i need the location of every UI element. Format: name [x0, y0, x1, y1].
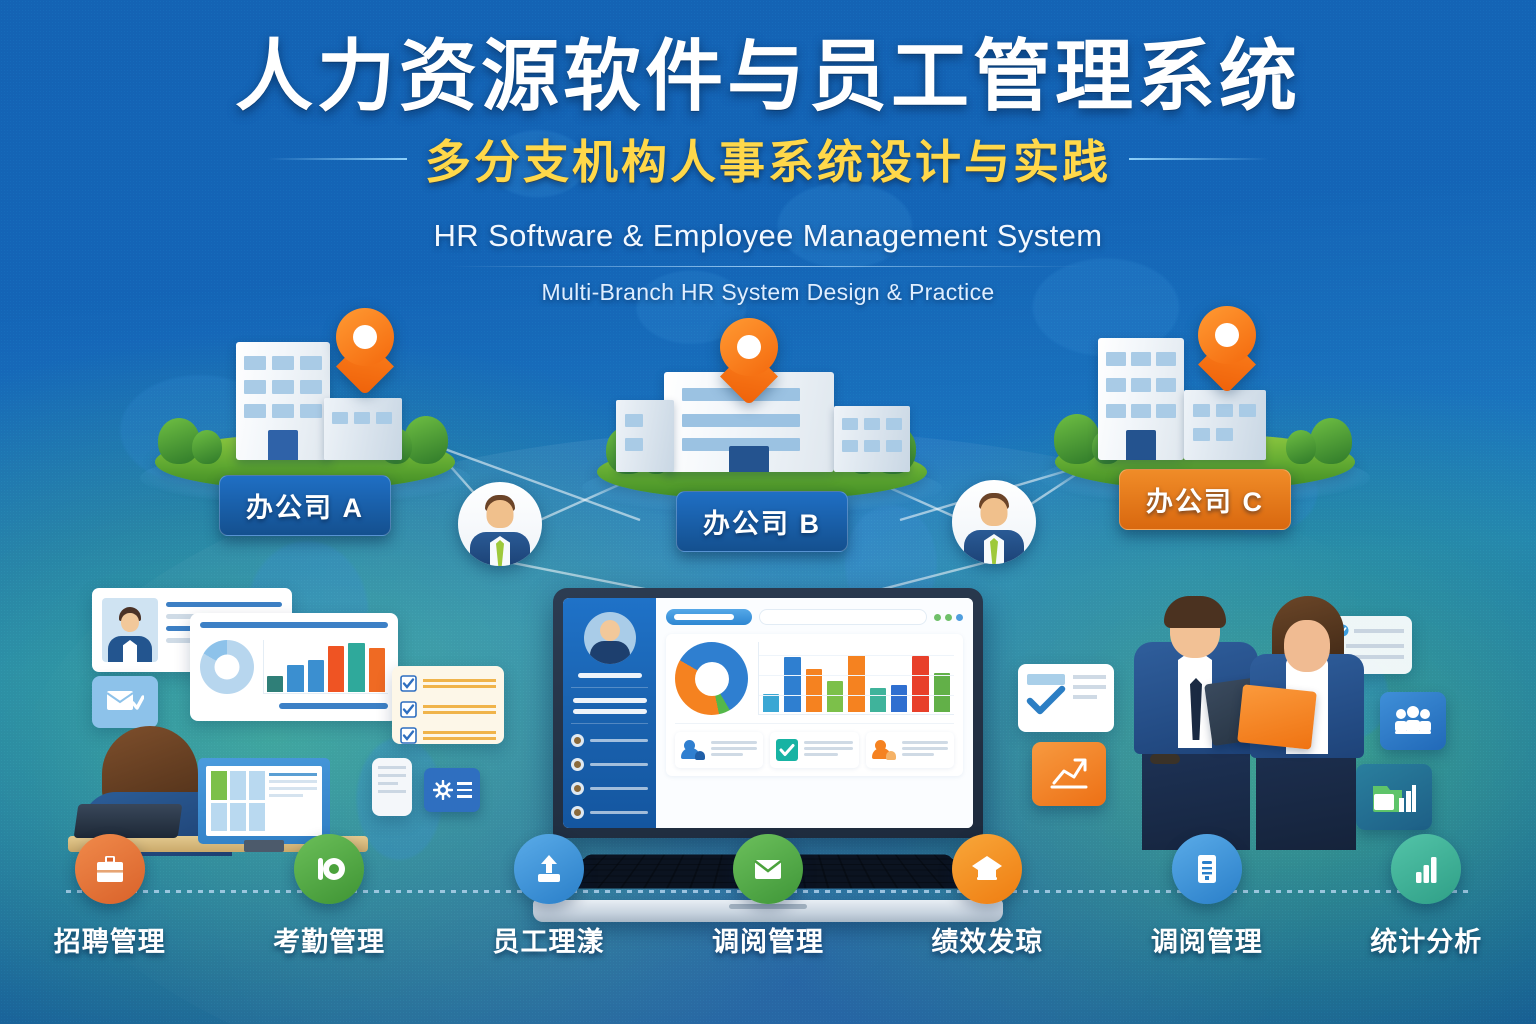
building-a-annex	[324, 398, 402, 460]
upload-icon	[514, 834, 584, 904]
list-avatar-icon	[571, 806, 584, 819]
page-title: 人力资源软件与员工管理系统	[0, 36, 1536, 118]
list-avatar-icon	[571, 734, 584, 747]
arrow-up-chart-icon	[1048, 755, 1090, 793]
page-title-en: HR Software & Employee Management System	[0, 218, 1536, 254]
document-icon[interactable]	[372, 758, 412, 816]
graduation-icon	[952, 834, 1022, 904]
primary-button[interactable]	[666, 609, 752, 625]
employee-node-right[interactable]	[952, 480, 1036, 564]
card-title-bar	[200, 622, 388, 628]
avatar	[963, 518, 1025, 564]
office-badge-a[interactable]: 办公司 A	[219, 475, 391, 536]
feature-recruitment[interactable]: 招聘管理	[0, 834, 219, 959]
dashboard-card[interactable]	[866, 732, 954, 768]
id-photo	[102, 598, 158, 662]
list-avatar-icon	[571, 758, 584, 771]
feature-label: 员工理漾	[493, 920, 605, 959]
checkbox-checked-icon[interactable]	[400, 701, 417, 718]
tree-icon	[192, 430, 222, 464]
building-b-left	[616, 400, 674, 472]
dashboard-main	[656, 598, 973, 828]
feature-label: 调阅管理	[1151, 920, 1263, 959]
divider-left	[267, 158, 407, 160]
business-people-illustration	[1120, 578, 1380, 850]
divider-right	[1129, 158, 1269, 160]
office-node-a[interactable]: 办公司 A	[140, 300, 470, 490]
feature-benefits[interactable]: 绩效发琼	[878, 834, 1097, 959]
sidebar-item[interactable]	[571, 806, 648, 819]
gear-icon	[433, 780, 453, 800]
task-check-card[interactable]	[1018, 664, 1114, 732]
status-dots	[934, 614, 963, 621]
feature-label: 考勤管理	[273, 920, 385, 959]
check-teal-icon	[776, 739, 798, 761]
user-blue-icon	[681, 739, 705, 761]
charts-panel	[666, 634, 963, 776]
growth-arrow-icon[interactable]	[1032, 742, 1106, 806]
dashboard-card[interactable]	[770, 732, 858, 768]
document-icon	[1172, 834, 1242, 904]
clock-io-icon	[294, 834, 364, 904]
donut-chart	[675, 642, 748, 715]
feature-bar: 招聘管理 考勤管理 员工理漾 调阅管理	[0, 834, 1536, 1024]
building-c-annex	[1184, 390, 1266, 460]
feature-label: 招聘管理	[54, 920, 166, 959]
feature-label: 统计分析	[1370, 920, 1482, 959]
title-divider: 多分支机构人事系统设计与实践	[0, 126, 1536, 192]
checkbox-checked-icon[interactable]	[400, 675, 417, 692]
feature-label: 调阅管理	[712, 920, 824, 959]
bar-chart-icon	[1391, 834, 1461, 904]
poster-canvas: 人力资源软件与员工管理系统 多分支机构人事系统设计与实践 HR Software…	[0, 0, 1536, 1024]
office-node-c[interactable]: 办公司 C	[1040, 300, 1370, 490]
envelope-icon	[733, 834, 803, 904]
office-badge-c[interactable]: 办公司 C	[1119, 469, 1291, 530]
list-avatar-icon	[571, 782, 584, 795]
page-subtitle-en: Multi-Branch HR System Design & Practice	[0, 279, 1536, 306]
avatar	[469, 520, 531, 566]
english-divider	[448, 266, 1088, 267]
feature-documents[interactable]: 调阅管理	[1097, 834, 1316, 959]
profile-avatar[interactable]	[584, 612, 636, 664]
feature-analytics[interactable]: 统计分析	[1317, 834, 1536, 959]
office-badge-b[interactable]: 办公司 B	[676, 491, 848, 552]
team-group-icon[interactable]	[1380, 692, 1446, 750]
sidebar-item[interactable]	[571, 734, 648, 747]
building-a	[236, 342, 330, 460]
building-c	[1098, 338, 1184, 460]
dashboard-toolbar	[666, 609, 963, 625]
page-subtitle-cn: 多分支机构人事系统设计与实践	[425, 126, 1111, 192]
checkbox-checked-icon[interactable]	[400, 727, 417, 744]
employee-node-left[interactable]	[458, 482, 542, 566]
dashboard-screen[interactable]	[563, 598, 973, 828]
check-icon	[1026, 673, 1066, 717]
feature-attendance[interactable]: 考勤管理	[219, 834, 438, 959]
feature-messages[interactable]: 调阅管理	[658, 834, 877, 959]
gear-chat-icon[interactable]	[424, 768, 480, 812]
checklist-card[interactable]	[392, 666, 504, 744]
tree-icon	[1310, 418, 1352, 464]
sidebar-item[interactable]	[571, 782, 648, 795]
sidebar-item[interactable]	[571, 758, 648, 771]
feature-employee-profile[interactable]: 员工理漾	[439, 834, 658, 959]
feature-label: 绩效发琼	[931, 920, 1043, 959]
dashboard-card[interactable]	[675, 732, 763, 768]
hr-officer-illustration	[68, 686, 368, 856]
location-pin-icon	[1198, 306, 1256, 380]
laptop-lid	[553, 588, 983, 838]
location-pin-icon	[720, 318, 778, 392]
search-input[interactable]	[759, 609, 927, 625]
poster-header: 人力资源软件与员工管理系统 多分支机构人事系统设计与实践 HR Software…	[0, 36, 1536, 306]
briefcase-icon	[75, 834, 145, 904]
bar-chart	[758, 642, 954, 715]
office-node-b[interactable]: 办公司 B	[592, 340, 932, 500]
users-icon	[1393, 706, 1433, 736]
dashboard-sidebar[interactable]	[563, 598, 656, 828]
user-orange-icon	[872, 739, 896, 761]
tree-icon	[1286, 430, 1316, 464]
building-b-right	[834, 406, 910, 472]
dashboard-cards	[675, 732, 954, 768]
location-pin-icon	[336, 308, 394, 382]
